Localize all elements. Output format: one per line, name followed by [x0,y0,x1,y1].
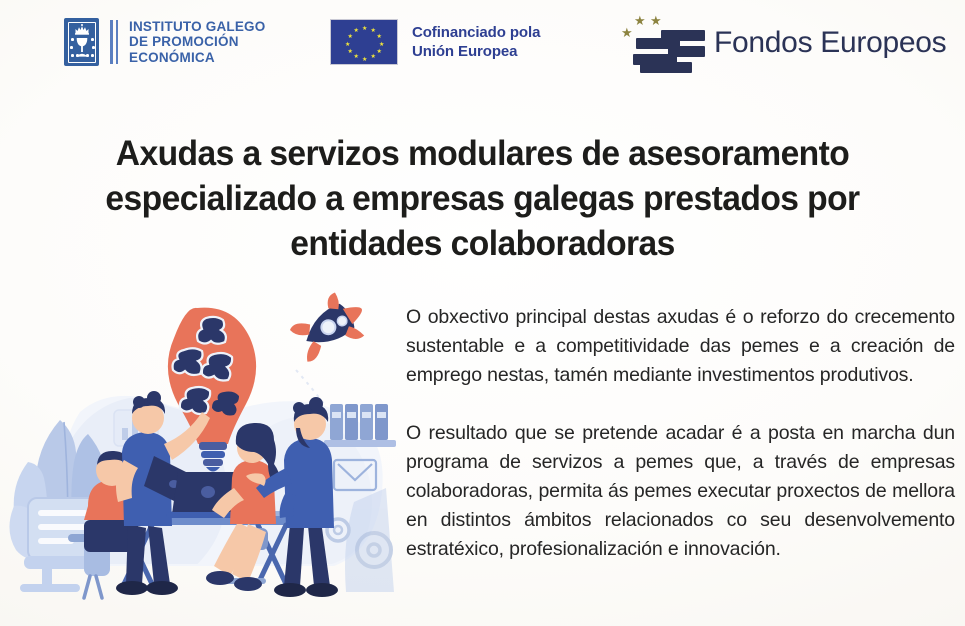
page-title: Axudas a servizos modulares de asesorame… [48,131,917,266]
body-text-column: O obxectivo principal destas axudas é o … [406,283,955,583]
logo-bar: INSTITUTO GALEGO DE PROMOCIÓN ECONÓMICA … [0,0,965,88]
rocket-icon [284,292,375,369]
crown-icon [73,24,90,35]
fondos-europeos-logo-mark-icon: ★ ★ ★ [620,10,706,76]
fondos-europeos-text: Fondos Europeos [714,26,946,60]
paragraph-objective: O obxectivo principal destas axudas é o … [406,303,955,390]
xunta-de-galicia-coat-of-arms-icon [64,18,99,66]
team-collaboration-illustration [2,292,398,622]
eu-cofinancing-text: Cofinanciado pola Unión Europea [412,23,540,61]
logo-divider [110,19,118,65]
paragraph-result: O resultado que se pretende acadar é a p… [406,419,955,564]
eu-cofinancing-logo: ★ ★ ★ ★ ★ ★ ★ ★ ★ ★ ★ ★ Cofinanciado pol… [330,17,540,67]
poster-page: INSTITUTO GALEGO DE PROMOCIÓN ECONÓMICA … [0,0,965,626]
igape-logo: INSTITUTO GALEGO DE PROMOCIÓN ECONÓMICA [64,16,265,68]
fondos-europeos-logo: ★ ★ ★ Fondos Europeos [620,8,946,78]
shelf-with-binders [324,404,396,447]
igape-logo-text: INSTITUTO GALEGO DE PROMOCIÓN ECONÓMICA [129,19,265,66]
european-union-flag-icon: ★ ★ ★ ★ ★ ★ ★ ★ ★ ★ ★ ★ [330,19,398,65]
